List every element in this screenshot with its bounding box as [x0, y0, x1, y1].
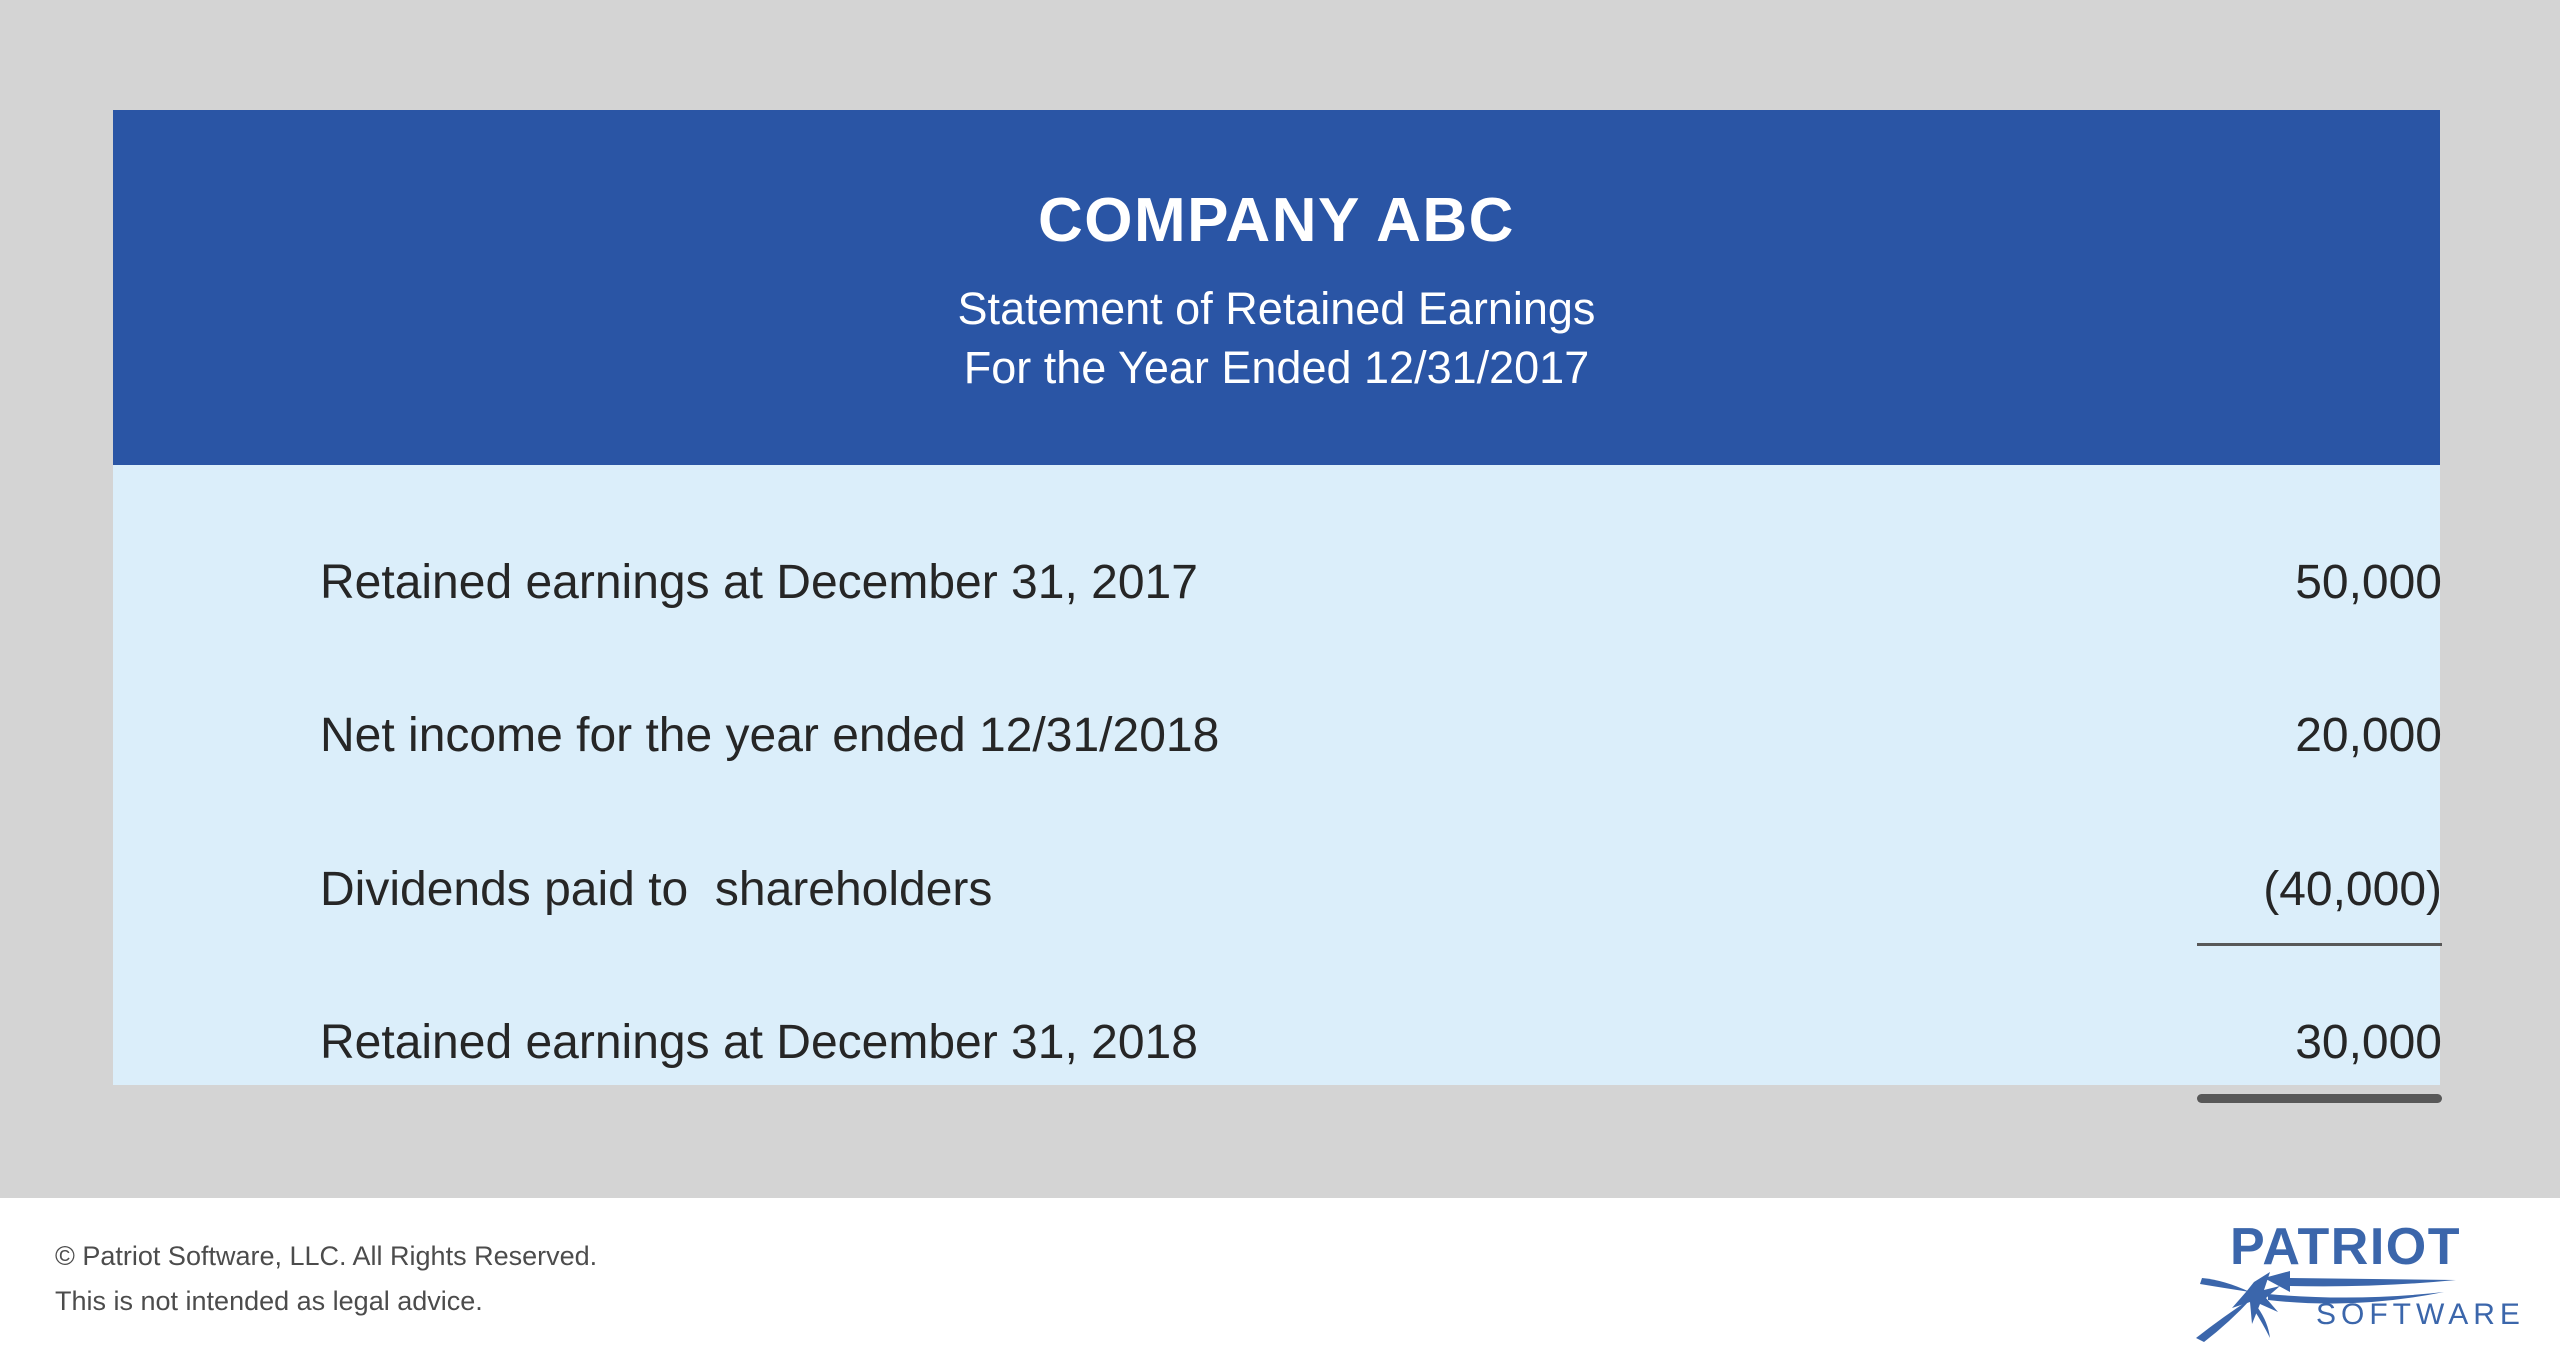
row-label: Net income for the year ended 12/31/2018	[320, 712, 1219, 760]
statement-title: Statement of Retained Earnings For the Y…	[958, 279, 1596, 398]
row-amount: 50,000	[2295, 559, 2442, 607]
row-amount-cell: (40,000)	[2142, 866, 2442, 914]
page-footer: © Patriot Software, LLC. All Rights Rese…	[0, 1198, 2560, 1372]
row-amount-cell: 20,000	[2142, 712, 2442, 760]
row-label: Retained earnings at December 31, 2017	[320, 559, 1198, 607]
row-amount: 20,000	[2295, 712, 2442, 760]
statement-title-line-1: Statement of Retained Earnings	[958, 283, 1596, 334]
statement-row: Retained earnings at December 31, 2018 3…	[320, 1008, 2442, 1078]
disclaimer-line: This is not intended as legal advice.	[55, 1279, 597, 1324]
patriot-software-logo: PATRIOT SOFTWARE	[2194, 1216, 2524, 1344]
statement-title-line-2: For the Year Ended 12/31/2017	[958, 338, 1596, 397]
company-name: COMPANY ABC	[1038, 188, 1515, 253]
copyright-line: © Patriot Software, LLC. All Rights Rese…	[55, 1234, 597, 1279]
statement-body: Retained earnings at December 31, 2017 5…	[113, 465, 2440, 1085]
logo-wordmark-text: PATRIOT	[2230, 1218, 2461, 1276]
row-amount: (40,000)	[2263, 866, 2442, 914]
retained-earnings-statement-card: COMPANY ABC Statement of Retained Earnin…	[113, 110, 2440, 1085]
page-canvas: COMPANY ABC Statement of Retained Earnin…	[0, 0, 2560, 1372]
statement-row: Dividends paid to shareholders (40,000)	[320, 855, 2442, 925]
row-amount: 30,000	[2295, 1019, 2442, 1067]
statement-header: COMPANY ABC Statement of Retained Earnin…	[113, 110, 2440, 465]
subtotal-rule	[2197, 943, 2442, 946]
logo-subtext: SOFTWARE	[2316, 1298, 2524, 1331]
statement-row: Net income for the year ended 12/31/2018…	[320, 701, 2442, 771]
total-rule	[2197, 1094, 2442, 1103]
row-label: Dividends paid to shareholders	[320, 866, 992, 914]
footer-legal-text: © Patriot Software, LLC. All Rights Rese…	[55, 1234, 597, 1325]
row-amount-cell: 50,000	[2142, 559, 2442, 607]
statement-row: Retained earnings at December 31, 2017 5…	[320, 548, 2442, 618]
row-label: Retained earnings at December 31, 2018	[320, 1019, 1198, 1067]
row-amount-cell: 30,000	[2142, 1019, 2442, 1067]
